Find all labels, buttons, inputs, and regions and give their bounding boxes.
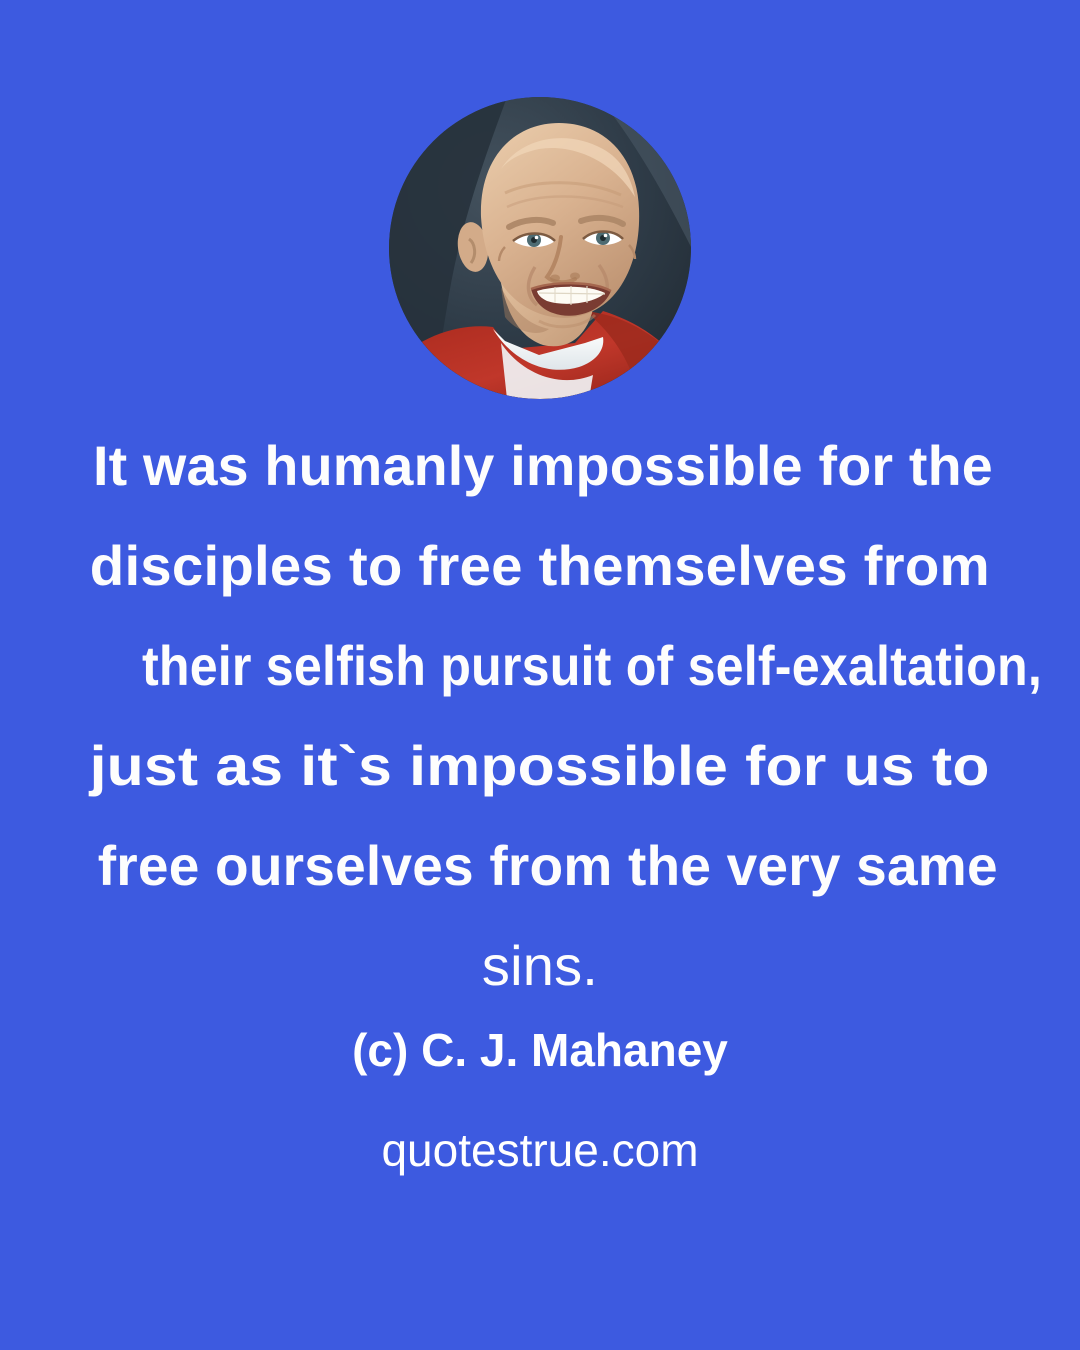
avatar-container	[0, 97, 1080, 399]
quote-line-6: sins.	[90, 916, 990, 1016]
portrait-photo-icon	[389, 97, 691, 399]
site-watermark: quotestrue.com	[0, 1118, 1080, 1182]
quote-text: It was humanly impossible for the discip…	[90, 416, 990, 1016]
quote-line-2: disciples to free themselves from	[90, 516, 990, 616]
quote-line-3: their selfish pursuit of self-exaltation…	[90, 616, 990, 716]
quote-line-4: just as it`s impossible for us to	[90, 716, 990, 816]
avatar	[389, 97, 691, 399]
quote-card: It was humanly impossible for the discip…	[0, 0, 1080, 1350]
attribution: (c) C. J. Mahaney	[0, 1018, 1080, 1082]
quote-line-5: free ourselves from the very same	[90, 816, 990, 916]
quote-line-1: It was humanly impossible for the	[90, 416, 990, 516]
